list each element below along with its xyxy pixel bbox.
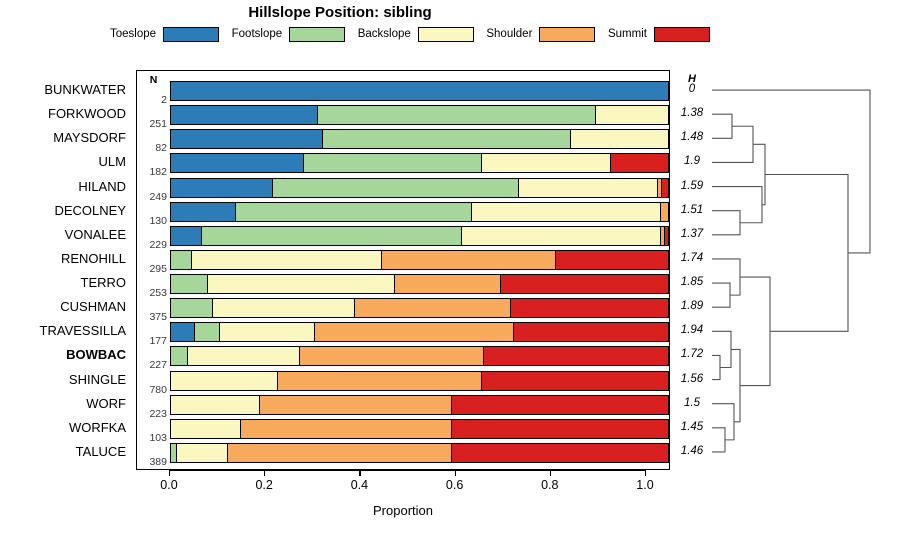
bar-row [170,274,669,294]
bar-segment-shoulder [661,203,668,221]
n-value: 177 [137,335,167,347]
x-axis-title: Proportion [136,503,670,518]
stacked-bar[interactable] [170,371,669,391]
stacked-bar[interactable] [170,395,669,415]
x-axis-tick-label: 1.0 [620,478,670,492]
stacked-bar[interactable] [170,322,669,342]
bar-segment-shoulder [278,372,482,390]
n-value: 375 [137,311,167,323]
stacked-bar[interactable] [170,274,669,294]
x-axis-tick-label: 0.6 [430,478,480,492]
n-column: N 22518218224913022929525337517722778022… [137,71,170,469]
stacked-bar[interactable] [170,129,669,149]
x-axis-tick-label: 0.2 [239,478,289,492]
bar-segment-footslope [202,227,462,245]
bar-row [170,105,669,125]
n-value: 389 [137,456,167,468]
bar-segment-footslope [171,299,213,317]
stacked-bar[interactable] [170,202,669,222]
bar-row [170,178,669,198]
bar-row [170,250,669,270]
bar-segment-backslope [482,154,611,172]
bar-segment-shoulder [300,347,484,365]
bar-segment-shoulder [395,275,502,293]
bar-segment-summit [514,323,668,341]
legend: ToeslopeFootslopeBackslopeShoulderSummit [110,24,710,44]
bar-segment-shoulder [260,396,451,414]
bar-segment-backslope [177,444,228,462]
legend-item-toeslope: Toeslope [110,27,219,42]
category-label-bunkwater: BUNKWATER [44,82,126,97]
category-label-forkwood: FORKWOOD [48,106,126,121]
bar-segment-backslope [171,372,278,390]
bar-segment-footslope [236,203,472,221]
category-label-renohill: RENOHILL [61,251,126,266]
bar-segment-summit [611,154,668,172]
bar-segment-footslope [195,323,220,341]
x-axis-tick [550,470,551,476]
n-value: 2 [137,94,167,106]
bar-segment-footslope [273,179,519,197]
bar-segment-summit [662,179,668,197]
x-axis-line [169,470,645,471]
bars-area [170,71,669,469]
legend-swatch-icon [289,27,345,42]
n-column-header: N [137,74,170,86]
bar-segment-toeslope [171,179,273,197]
category-label-maysdorf: MAYSDORF [53,130,126,145]
category-label-terro: TERRO [81,275,127,290]
category-label-travessilla: TRAVESSILLA [40,323,126,338]
bar-segment-toeslope [171,227,202,245]
bar-segment-backslope [208,275,394,293]
stacked-bar[interactable] [170,346,669,366]
stacked-bar-panel: N 22518218224913022929525337517722778022… [136,70,670,470]
bar-segment-shoulder [241,420,452,438]
category-label-bowbac: BOWBAC [66,347,126,362]
bar-segment-backslope [171,420,241,438]
category-axis-labels: BUNKWATERFORKWOODMAYSDORFULMHILANDDECOLN… [0,70,130,470]
stacked-bar[interactable] [170,226,669,246]
bar-row [170,322,669,342]
n-value: 227 [137,359,167,371]
bar-row [170,419,669,439]
legend-item-label: Summit [608,28,647,40]
bar-segment-toeslope [171,323,195,341]
legend-swatch-icon [418,27,474,42]
n-value: 251 [137,118,167,130]
dendrogram-tree [690,70,895,470]
bar-row [170,346,669,366]
x-axis: 0.00.20.40.60.81.0 [169,470,645,471]
bar-segment-shoulder [355,299,512,317]
category-label-decolney: DECOLNEY [54,203,126,218]
bar-segment-shoulder [315,323,514,341]
bar-row [170,226,669,246]
stacked-bar[interactable] [170,298,669,318]
category-label-taluce: TALUCE [76,444,126,459]
n-value: 130 [137,215,167,227]
legend-item-label: Footslope [232,28,283,40]
bar-segment-backslope [472,203,661,221]
bar-segment-backslope [192,251,382,269]
n-value: 295 [137,263,167,275]
category-label-hiland: HILAND [78,179,126,194]
bar-segment-toeslope [171,106,318,124]
bar-segment-backslope [213,299,355,317]
bar-segment-summit [452,396,668,414]
bar-segment-footslope [171,275,208,293]
legend-item-summit: Summit [608,27,710,42]
bar-row [170,443,669,463]
bar-segment-footslope [171,347,188,365]
bar-segment-summit [452,444,668,462]
bar-segment-toeslope [171,154,304,172]
n-value: 249 [137,191,167,203]
n-value: 82 [137,142,167,154]
category-label-worfka: WORFKA [69,420,126,435]
category-label-worf: WORF [86,396,126,411]
x-axis-tick [359,470,360,476]
stacked-bar[interactable] [170,178,669,198]
category-label-vonalee: VONALEE [65,227,126,242]
category-label-shingle: SHINGLE [69,372,126,387]
x-axis-tick [645,470,646,476]
bar-row [170,202,669,222]
bar-segment-backslope [220,323,315,341]
bar-segment-shoulder [228,444,452,462]
bar-segment-backslope [519,179,658,197]
bar-segment-footslope [323,130,572,148]
bar-segment-summit [511,299,668,317]
bar-row [170,298,669,318]
bar-segment-summit [452,420,668,438]
n-value: 780 [137,384,167,396]
bar-segment-backslope [596,106,668,124]
bar-row [170,81,669,101]
legend-swatch-icon [654,27,710,42]
dendrogram [690,70,895,470]
bar-segment-footslope [318,106,596,124]
n-value: 229 [137,239,167,251]
stacked-bar[interactable] [170,81,669,101]
legend-item-label: Shoulder [486,28,532,40]
bar-row [170,371,669,391]
page-title: Hillslope Position: sibling [0,4,680,21]
stacked-bar[interactable] [170,419,669,439]
legend-swatch-icon [539,27,595,42]
bar-segment-summit [484,347,668,365]
bar-segment-backslope [171,396,260,414]
bar-segment-summit [501,275,667,293]
bar-row [170,395,669,415]
bar-segment-toeslope [171,130,323,148]
x-axis-tick-label: 0.8 [525,478,575,492]
n-value: 182 [137,166,167,178]
bar-segment-footslope [304,154,481,172]
x-axis-tick [455,470,456,476]
bar-segment-toeslope [171,82,668,100]
bar-segment-summit [556,251,668,269]
legend-item-label: Toeslope [110,28,156,40]
x-axis-tick-label: 0.4 [334,478,384,492]
bar-segment-summit [665,227,668,245]
n-value: 253 [137,287,167,299]
legend-item-footslope: Footslope [232,27,346,42]
legend-item-backslope: Backslope [358,27,474,42]
bar-segment-summit [482,372,668,390]
legend-item-shoulder: Shoulder [486,27,595,42]
bar-segment-footslope [171,251,192,269]
x-axis-tick-label: 0.0 [144,478,194,492]
bar-row [170,153,669,173]
category-label-ulm: ULM [99,154,126,169]
legend-item-label: Backslope [358,28,411,40]
x-axis-tick [264,470,265,476]
stacked-bar[interactable] [170,153,669,173]
x-axis-tick [169,470,170,476]
chart-root: Hillslope Position: sibling ToeslopeFoot… [0,0,900,540]
bar-segment-toeslope [171,203,236,221]
n-value: 223 [137,408,167,420]
bar-segment-backslope [188,347,300,365]
category-label-cushman: CUSHMAN [60,299,126,314]
stacked-bar[interactable] [170,443,669,463]
stacked-bar[interactable] [170,105,669,125]
bar-segment-shoulder [382,251,556,269]
n-value: 103 [137,432,167,444]
bar-row [170,129,669,149]
stacked-bar[interactable] [170,250,669,270]
legend-swatch-icon [163,27,219,42]
bar-segment-backslope [571,130,668,148]
bar-segment-backslope [462,227,661,245]
